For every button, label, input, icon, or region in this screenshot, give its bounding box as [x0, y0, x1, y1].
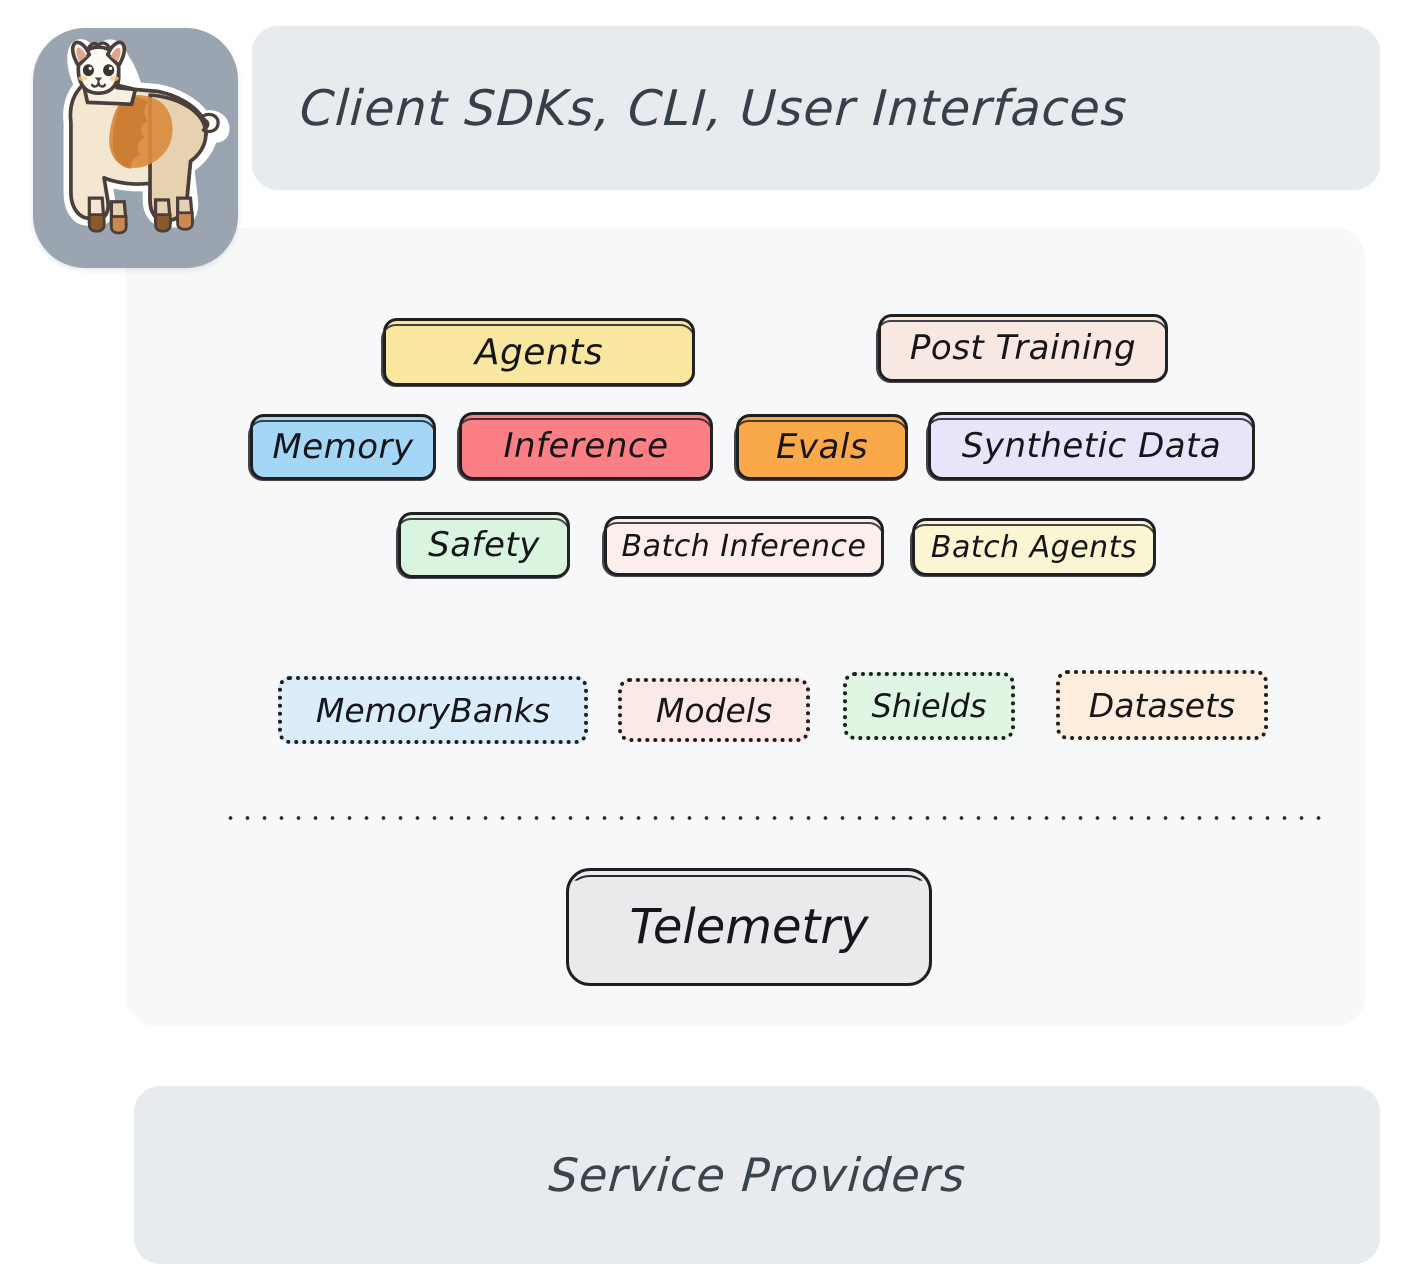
resource-box-models[interactable]: Models — [618, 678, 810, 742]
api-box-label: Agents — [475, 332, 603, 373]
resource-box-label: Shields — [871, 687, 986, 725]
api-box-batch-inference[interactable]: Batch Inference — [604, 516, 884, 576]
resource-box-shields[interactable]: Shields — [843, 672, 1015, 740]
api-box-agents[interactable]: Agents — [383, 318, 695, 386]
resource-box-label: MemoryBanks — [316, 691, 550, 730]
resource-box-datasets[interactable]: Datasets — [1056, 670, 1268, 740]
api-box-post-training[interactable]: Post Training — [878, 314, 1168, 382]
resource-box-memorybanks[interactable]: MemoryBanks — [278, 676, 588, 744]
api-box-synthetic-data[interactable]: Synthetic Data — [928, 412, 1255, 480]
header-title: Client SDKs, CLI, User Interfaces — [251, 80, 1129, 137]
api-box-safety[interactable]: Safety — [398, 512, 570, 578]
api-box-label: Memory — [272, 427, 413, 467]
footer-title: Service Providers — [547, 1148, 968, 1202]
diagram-canvas: Client SDKs, CLI, User Interfaces — [0, 0, 1410, 1268]
api-box-memory[interactable]: Memory — [250, 414, 436, 480]
api-box-label: Evals — [776, 427, 868, 467]
api-box-inference[interactable]: Inference — [459, 412, 713, 480]
api-box-label: Post Training — [910, 328, 1136, 368]
llama-logo-tile — [33, 28, 238, 268]
dotted-divider — [222, 815, 1322, 821]
api-box-evals[interactable]: Evals — [736, 414, 908, 480]
telemetry-box[interactable]: Telemetry — [566, 868, 932, 986]
api-box-label: Batch Inference — [622, 529, 867, 564]
api-box-label: Batch Agents — [931, 530, 1137, 565]
llama-icon — [33, 28, 238, 268]
api-box-label: Inference — [503, 426, 668, 466]
api-box-batch-agents[interactable]: Batch Agents — [912, 518, 1156, 576]
header-bar: Client SDKs, CLI, User Interfaces — [252, 26, 1380, 190]
resource-box-label: Models — [656, 691, 772, 730]
api-box-label: Safety — [428, 525, 540, 565]
api-box-label: Synthetic Data — [962, 426, 1222, 466]
telemetry-label: Telemetry — [629, 899, 868, 955]
resource-box-label: Datasets — [1089, 686, 1235, 725]
footer-bar: Service Providers — [134, 1086, 1380, 1264]
